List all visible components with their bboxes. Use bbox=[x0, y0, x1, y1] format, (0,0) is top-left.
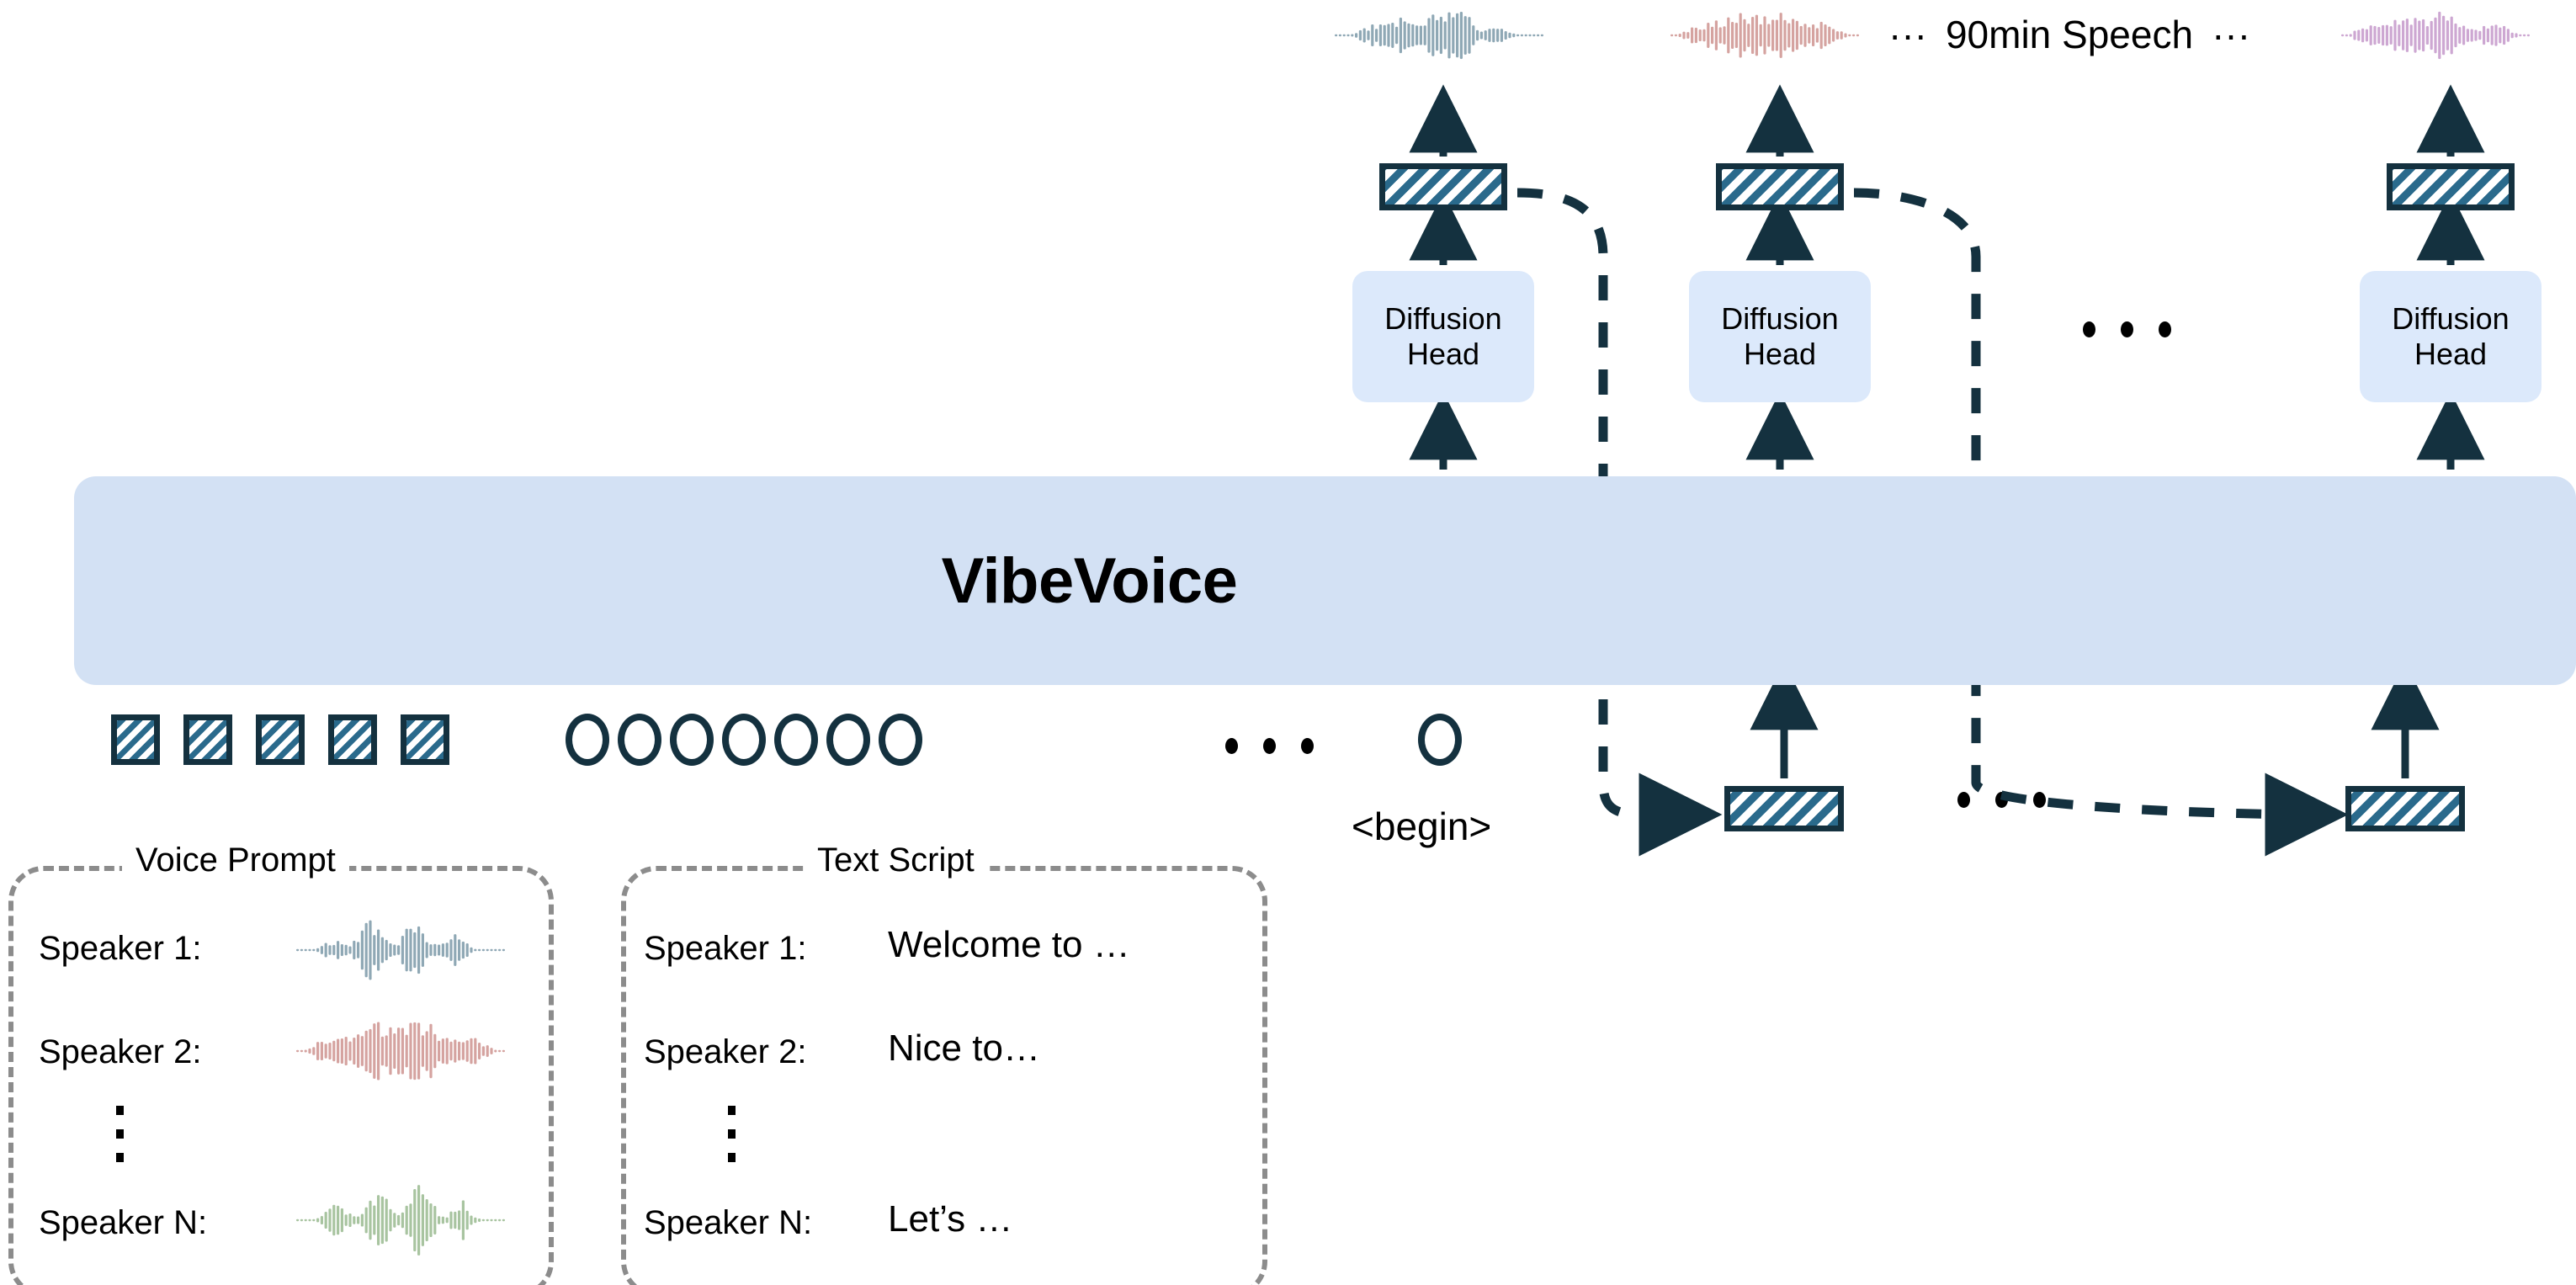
voice-prompt-waveform-3 bbox=[296, 1178, 507, 1262]
input-latent-token-2 bbox=[2345, 786, 2465, 831]
text-token bbox=[879, 714, 922, 766]
ellipsis-left: ··· bbox=[1888, 12, 1927, 57]
begin-token bbox=[1418, 714, 1462, 766]
speech-annotation: ··· 90min Speech ··· bbox=[1888, 12, 2250, 57]
text-script-line-3: Let’s … bbox=[888, 1198, 1012, 1240]
text-token bbox=[566, 714, 609, 766]
voice-prompt-title: Voice Prompt bbox=[122, 842, 349, 879]
voice-prompt-speaker-label-2: Speaker 2: bbox=[39, 1033, 201, 1071]
text-token bbox=[774, 714, 818, 766]
text-token-ellipsis bbox=[1225, 738, 1314, 754]
text-script-speaker-label-2: Speaker 2: bbox=[644, 1033, 806, 1071]
voice-prompt-token bbox=[328, 714, 377, 765]
voice-prompt-token bbox=[183, 714, 232, 765]
output-waveform-2 bbox=[1670, 10, 1864, 61]
output-latent-token-2 bbox=[1716, 163, 1844, 210]
text-token bbox=[670, 714, 714, 766]
voice-prompt-token-row bbox=[111, 714, 449, 765]
input-latent-token-1 bbox=[1724, 786, 1844, 831]
diffusion-head-2[interactable]: Diffusion Head bbox=[1689, 271, 1871, 402]
diffusion-head-line2: Head bbox=[1744, 337, 1816, 372]
diffusion-head-line1: Diffusion bbox=[1384, 301, 1501, 337]
voice-prompt-speaker-label-1: Speaker 1: bbox=[39, 930, 201, 968]
voice-prompt-token bbox=[401, 714, 449, 765]
voice-prompt-vertical-ellipsis bbox=[116, 1106, 124, 1162]
text-script-title: Text Script bbox=[804, 842, 988, 879]
input-latent-ellipsis bbox=[1957, 792, 2046, 808]
waveform-svg bbox=[1670, 10, 1864, 61]
voice-prompt-token bbox=[111, 714, 160, 765]
speech-duration-label: 90min Speech bbox=[1946, 12, 2193, 57]
voice-prompt-waveform-1 bbox=[296, 917, 507, 983]
diffusion-head-line2: Head bbox=[1407, 337, 1479, 372]
ellipsis-right: ··· bbox=[2212, 12, 2250, 57]
voice-prompt-waveform-2 bbox=[296, 1020, 507, 1082]
diffusion-head-line1: Diffusion bbox=[1721, 301, 1838, 337]
text-script-line-1: Welcome to … bbox=[888, 924, 1130, 966]
text-token bbox=[826, 714, 870, 766]
diffusion-head-ellipsis bbox=[2083, 321, 2171, 337]
model-name-label: VibeVoice bbox=[942, 544, 1238, 618]
output-latent-token-3 bbox=[2387, 163, 2515, 210]
text-token bbox=[618, 714, 661, 766]
text-script-speaker-label-3: Speaker N: bbox=[644, 1204, 812, 1242]
begin-token-label: <begin> bbox=[1352, 804, 1491, 849]
diffusion-head-line2: Head bbox=[2414, 337, 2487, 372]
diffusion-head-3[interactable]: Diffusion Head bbox=[2360, 271, 2541, 402]
text-script-speaker-label-1: Speaker 1: bbox=[644, 930, 806, 968]
vibevoice-model-bar: VibeVoice bbox=[74, 476, 2576, 685]
diffusion-head-1[interactable]: Diffusion Head bbox=[1352, 271, 1534, 402]
text-token-row bbox=[566, 714, 922, 766]
voice-prompt-token bbox=[256, 714, 305, 765]
text-script-line-2: Nice to… bbox=[888, 1027, 1040, 1070]
waveform-svg bbox=[1335, 5, 1545, 66]
output-waveform-3 bbox=[2341, 10, 2535, 61]
text-script-vertical-ellipsis bbox=[728, 1106, 736, 1162]
waveform-svg bbox=[2341, 10, 2535, 61]
text-token bbox=[722, 714, 766, 766]
output-latent-token-1 bbox=[1379, 163, 1507, 210]
diagram-canvas: ··· 90min Speech ··· Diffusion Head Diff… bbox=[0, 0, 2576, 1285]
voice-prompt-speaker-label-3: Speaker N: bbox=[39, 1204, 207, 1242]
output-waveform-1 bbox=[1335, 5, 1545, 66]
diffusion-head-line1: Diffusion bbox=[2392, 301, 2509, 337]
